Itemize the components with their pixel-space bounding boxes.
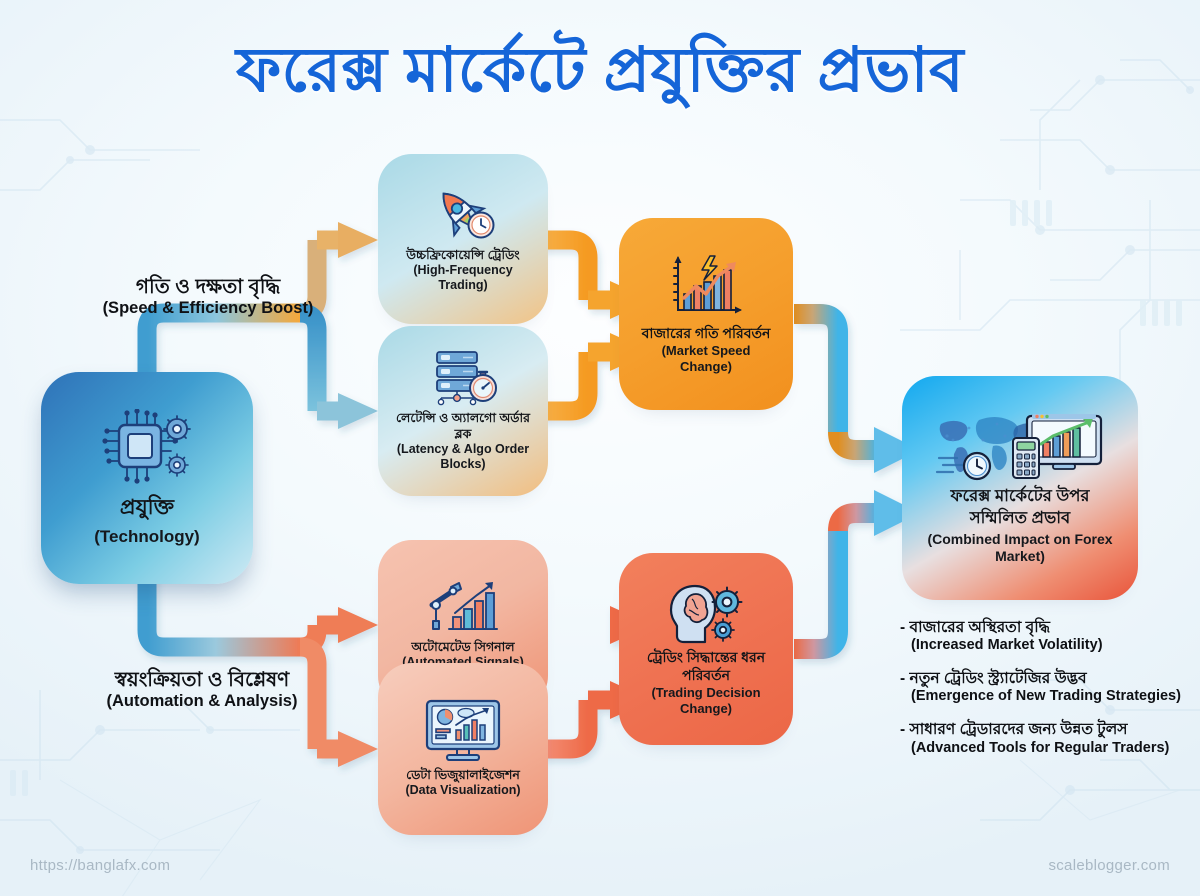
- page-title: ফরেক্স মার্কেটে প্রযুক্তির প্রভাব: [0, 38, 1200, 103]
- bullet-2-bn: - নতুন ট্রেডিং স্ট্র্যাটেজির উদ্ভব: [900, 669, 1190, 688]
- bar-chart-lightning-icon: [666, 254, 746, 320]
- outcome-bullet-list: - বাজারের অস্থিরতা বৃদ্ধি (Increased Mar…: [900, 618, 1190, 771]
- node-technology-label-en: (Technology): [94, 527, 199, 547]
- node-market-speed-label-en: (Market Speed Change): [636, 343, 776, 374]
- node-trading-decision-label-bn: ট্রেডিং সিদ্ধান্তের ধরন পরিবর্তন: [636, 648, 776, 684]
- bullet-1-bn: - বাজারের অস্থিরতা বৃদ্ধি: [900, 618, 1190, 637]
- branch-label-speed-en: (Speed & Efficiency Boost): [88, 299, 328, 319]
- node-technology-label-bn: প্রযুক্তি: [120, 491, 174, 526]
- node-technology[interactable]: প্রযুক্তি (Technology): [54, 385, 240, 571]
- list-item: - নতুন ট্রেডিং স্ট্র্যাটেজির উদ্ভব (Emer…: [900, 669, 1190, 706]
- branch-label-automation: স্বয়ংক্রিয়তা ও বিশ্লেষণ (Automation & …: [72, 668, 332, 712]
- monitor-dashboard-icon: [421, 699, 505, 763]
- bullet-1-en: (Increased Market Volatility): [900, 637, 1190, 655]
- brain-head-gears-icon: [665, 582, 747, 644]
- node-signals-label-bn: অটোমেটেড সিগনাল: [411, 639, 514, 655]
- infographic-canvas: ফরেক্স মার্কেটে প্রযুক্তির প্রভাব: [0, 0, 1200, 896]
- node-market-speed-label-bn: বাজারের গতি পরিবর্তন: [642, 324, 771, 342]
- node-combined-label-bn: ফরেক্স মার্কেটের উপর সম্মিলিত প্রভাব: [921, 486, 1119, 529]
- microchip-gears-icon: [99, 409, 195, 487]
- node-latency-algo-blocks[interactable]: লেটেন্সি ও অ্যালগো অর্ডার ব্লক (Latency …: [389, 337, 537, 485]
- bullet-2-en: (Emergence of New Trading Strategies): [900, 688, 1190, 706]
- bullet-3-en: (Advanced Tools for Regular Traders): [900, 740, 1190, 758]
- node-dataviz-label-bn: ডেটা ভিজুয়ালাইজেশন: [406, 767, 520, 783]
- node-combined-impact[interactable]: ফরেক্স মার্কেটের উপর সম্মিলিত প্রভাব (Co…: [915, 389, 1125, 587]
- node-market-speed-change[interactable]: বাজারের গতি পরিবর্তন (Market Speed Chang…: [630, 229, 782, 399]
- footer-source-url[interactable]: https://banglafx.com: [30, 857, 170, 874]
- list-item: - বাজারের অস্থিরতা বৃদ্ধি (Increased Mar…: [900, 618, 1190, 655]
- node-high-frequency-trading[interactable]: উচ্চফ্রিকোয়েন্সি ট্রেডিং (High-Frequenc…: [389, 165, 537, 313]
- node-hft-label-bn: উচ্চফ্রিকোয়েন্সি ট্রেডিং: [406, 247, 519, 263]
- branch-label-automation-en: (Automation & Analysis): [72, 692, 332, 712]
- node-latency-label-bn: লেটেন্সি ও অ্যালগো অর্ডার ব্লক: [395, 410, 531, 442]
- branch-label-speed: গতি ও দক্ষতা বৃদ্ধি (Speed & Efficiency …: [88, 275, 328, 319]
- node-latency-label-en: (Latency & Algo Order Blocks): [395, 442, 531, 473]
- node-trading-decision-label-en: (Trading Decision Change): [636, 685, 776, 716]
- branch-label-automation-bn: স্বয়ংক্রিয়তা ও বিশ্লেষণ: [72, 668, 332, 692]
- branch-label-speed-bn: গতি ও দক্ষতা বৃদ্ধি: [88, 275, 328, 299]
- list-item: - সাধারণ ট্রেডারদের জন্য উন্নত টুলস (Adv…: [900, 720, 1190, 757]
- server-stopwatch-icon: [425, 350, 501, 406]
- node-hft-label-en: (High-Frequency Trading): [395, 263, 531, 294]
- node-dataviz-label-en: (Data Visualization): [405, 783, 520, 798]
- robot-arm-chart-icon: [423, 579, 503, 635]
- bullet-3-bn: - সাধারণ ট্রেডারদের জন্য উন্নত টুলস: [900, 720, 1190, 739]
- rocket-clock-icon: [427, 185, 499, 243]
- node-trading-decision-change[interactable]: ট্রেডিং সিদ্ধান্তের ধরন পরিবর্তন (Tradin…: [630, 564, 782, 734]
- node-combined-label-en: (Combined Impact on Forex Market): [921, 531, 1119, 565]
- node-data-visualization[interactable]: ডেটা ভিজুয়ালাইজেশন (Data Visualization): [389, 674, 537, 824]
- footer-brand[interactable]: scaleblogger.com: [1048, 857, 1170, 874]
- world-map-monitor-clock-icon: [931, 410, 1109, 482]
